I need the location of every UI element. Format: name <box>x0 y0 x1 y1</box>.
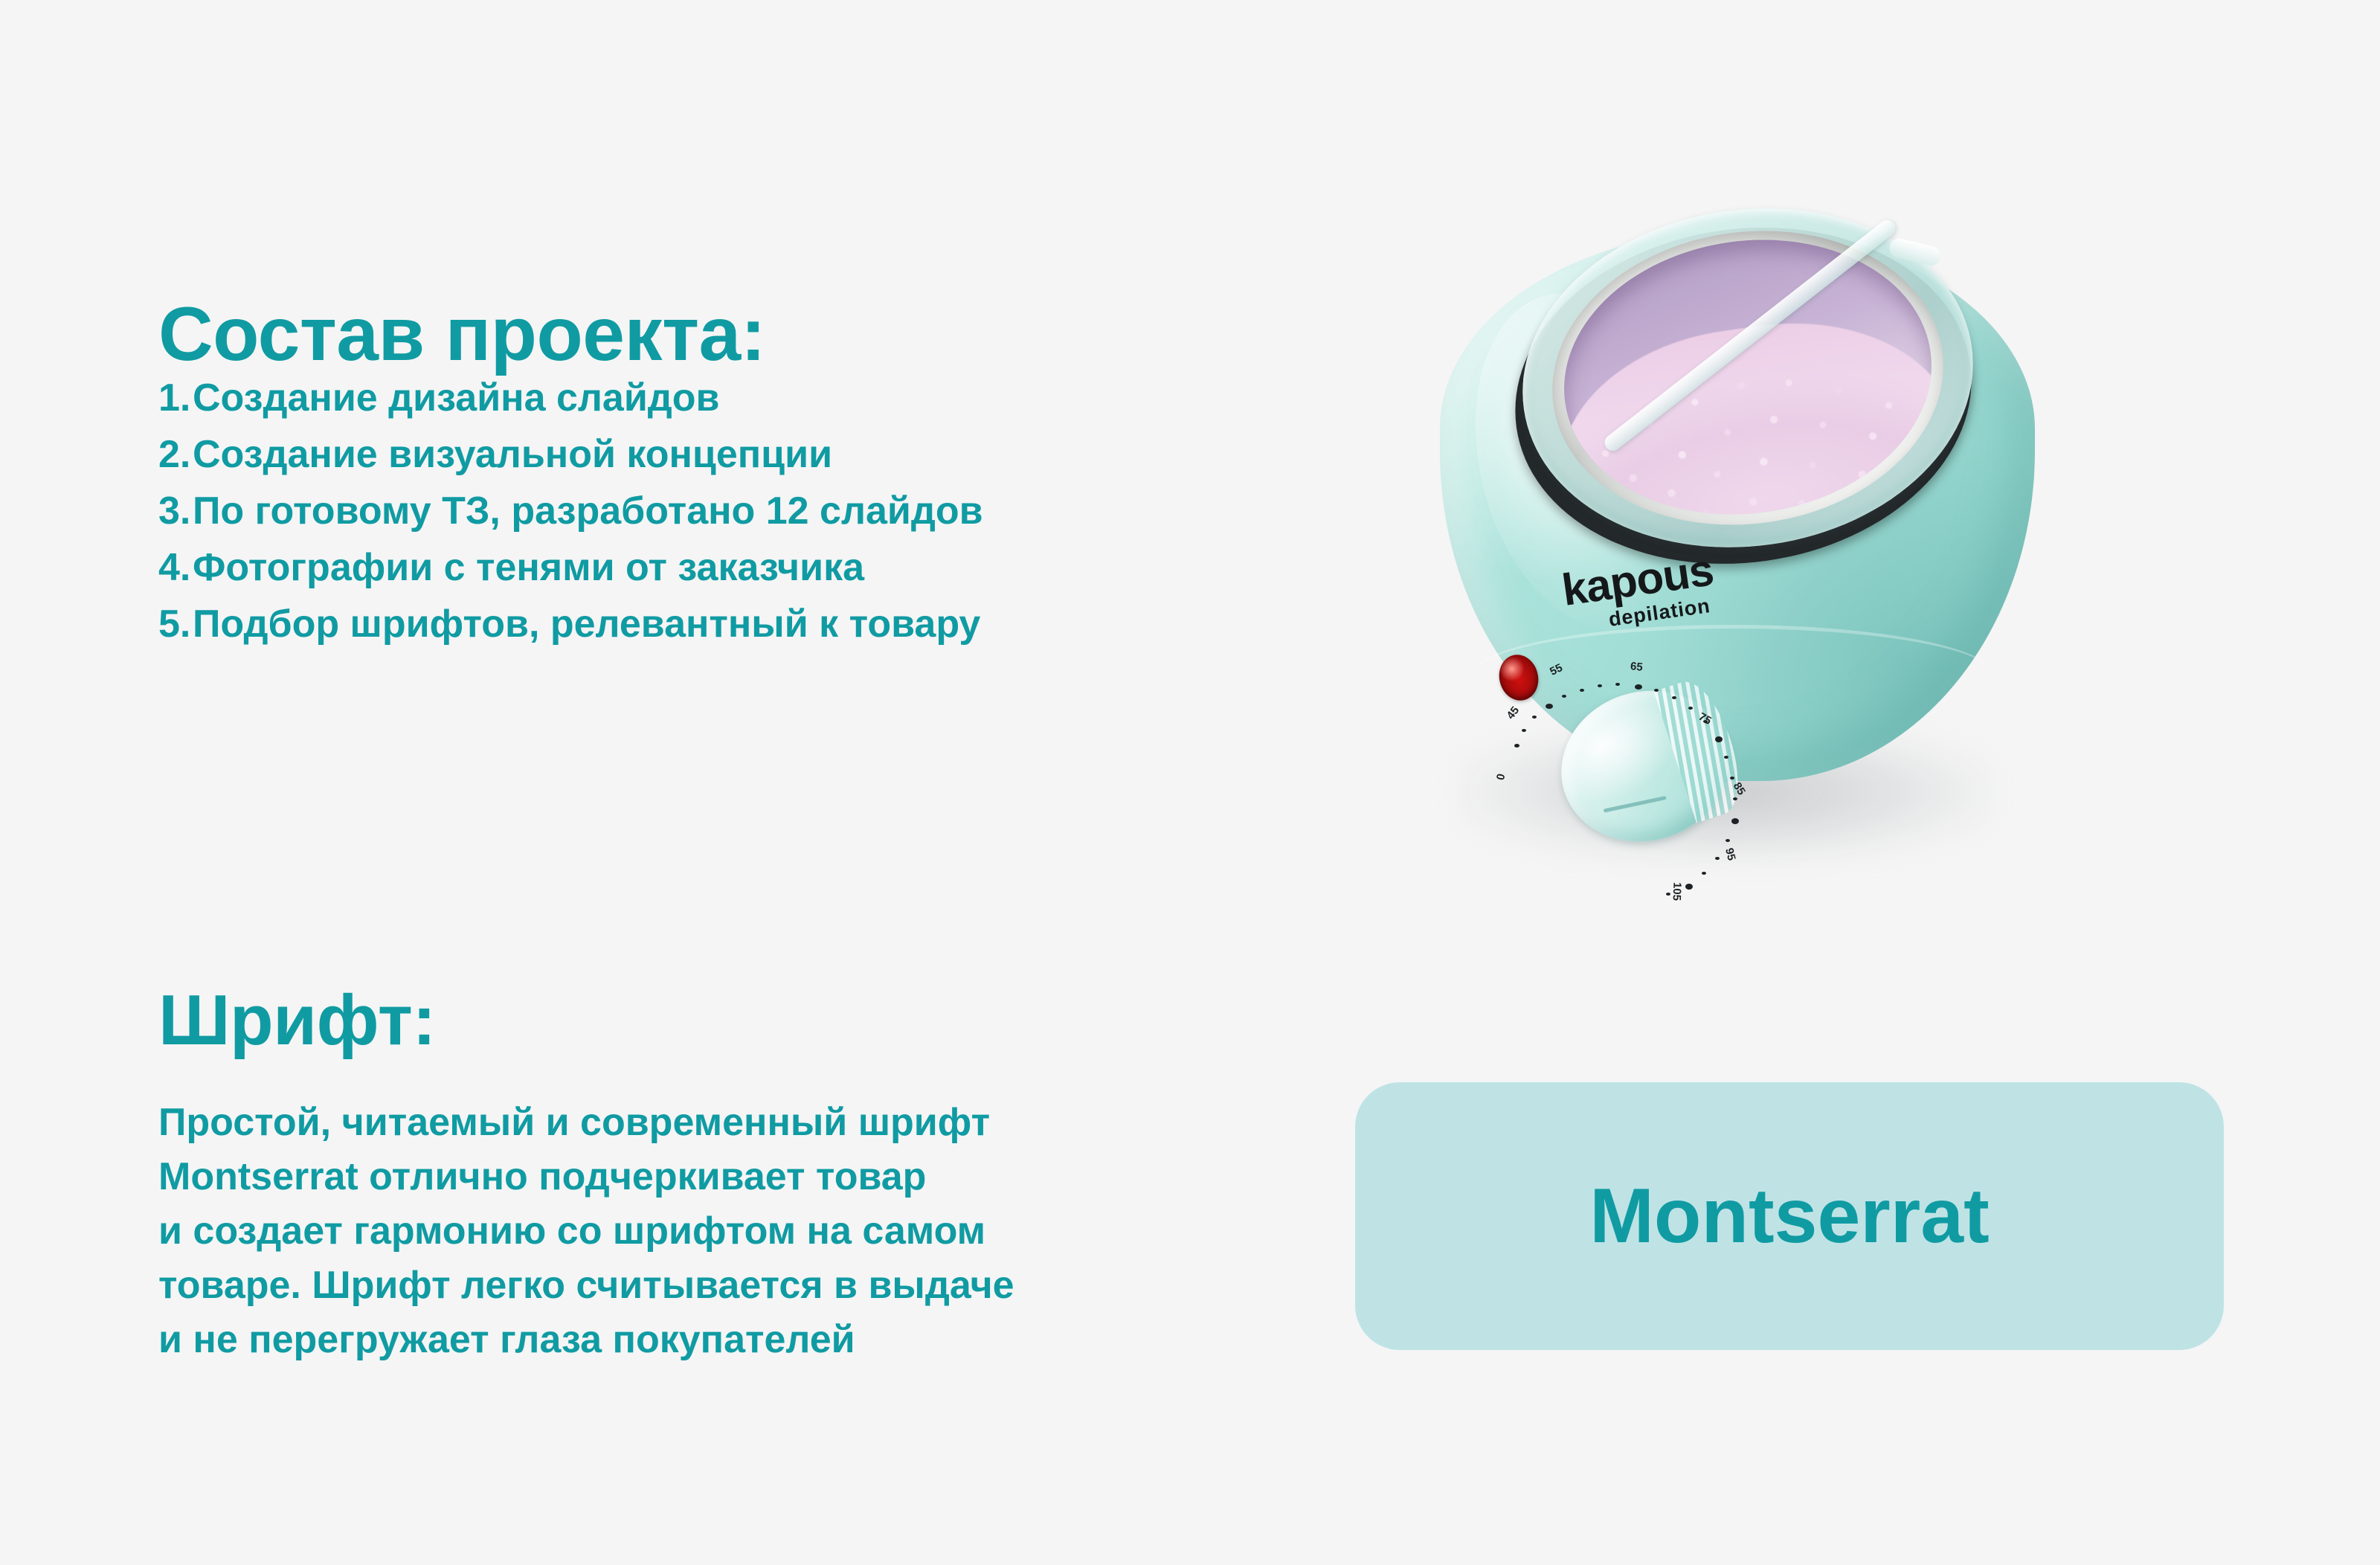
list-item-number: 3. <box>158 483 193 539</box>
dial-tick-label: 65 <box>1630 660 1643 674</box>
list-item: 4.Фотографии с тенями от заказчика <box>158 539 983 596</box>
list-item-label: Фотографии с тенями от заказчика <box>193 546 864 589</box>
dial-tick-label: 95 <box>1723 846 1738 861</box>
dial-tick-label: 55 <box>1548 661 1564 678</box>
dial-tick-label: 45 <box>1505 704 1522 722</box>
paragraph-line: и создает гармонию со шрифтом на самом <box>158 1204 1014 1259</box>
font-description-paragraph: Простой, читаемый и современный шрифт Mo… <box>158 1096 1014 1367</box>
dial-tick-label: 75 <box>1696 710 1714 727</box>
composition-list: 1.Создание дизайна слайдов 2.Создание ви… <box>158 370 983 652</box>
composition-heading: Состав проекта: <box>158 296 765 372</box>
list-item-number: 4. <box>158 539 193 596</box>
list-item-label: Подбор шрифтов, релевантный к товару <box>193 602 980 646</box>
left-content-column: Состав проекта: 1.Создание дизайна слайд… <box>158 0 1319 1565</box>
list-item-number: 5. <box>158 596 193 652</box>
list-item-label: Создание визуальной концепции <box>193 433 832 476</box>
list-item: 3.По готовому ТЗ, разработано 12 слайдов <box>158 483 983 539</box>
font-sample-card: Montserrat <box>1355 1082 2224 1350</box>
dial-tick-label: 105 <box>1670 882 1684 902</box>
list-item-label: По готовому ТЗ, разработано 12 слайдов <box>193 489 983 533</box>
temperature-dial-scale: 0 45 55 65 75 85 95 105 <box>1480 625 1800 907</box>
dial-tick-label: 85 <box>1731 780 1748 797</box>
list-item-number: 2. <box>158 426 193 483</box>
slide-canvas: Состав проекта: 1.Создание дизайна слайд… <box>0 0 2380 1565</box>
paragraph-line: Montserrat отлично подчеркивает товар <box>158 1150 1014 1204</box>
list-item: 5.Подбор шрифтов, релевантный к товару <box>158 596 983 652</box>
list-item: 2.Создание визуальной концепции <box>158 426 983 483</box>
dial-tick-label: 0 <box>1494 773 1508 782</box>
paragraph-line: и не перегружает глаза покупателей <box>158 1313 1014 1367</box>
list-item-label: Создание дизайна слайдов <box>193 376 720 420</box>
list-item: 1.Создание дизайна слайдов <box>158 370 983 426</box>
product-photo-wax-warmer: kapous depilation 0 45 55 65 75 85 95 10… <box>1368 104 2097 855</box>
paragraph-line: товаре. Шрифт легко считывается в выдаче <box>158 1259 1014 1313</box>
font-sample-label: Montserrat <box>1589 1177 1989 1255</box>
font-heading: Шрифт: <box>158 985 436 1056</box>
paragraph-line: Простой, читаемый и современный шрифт <box>158 1096 1014 1150</box>
list-item-number: 1. <box>158 370 193 426</box>
